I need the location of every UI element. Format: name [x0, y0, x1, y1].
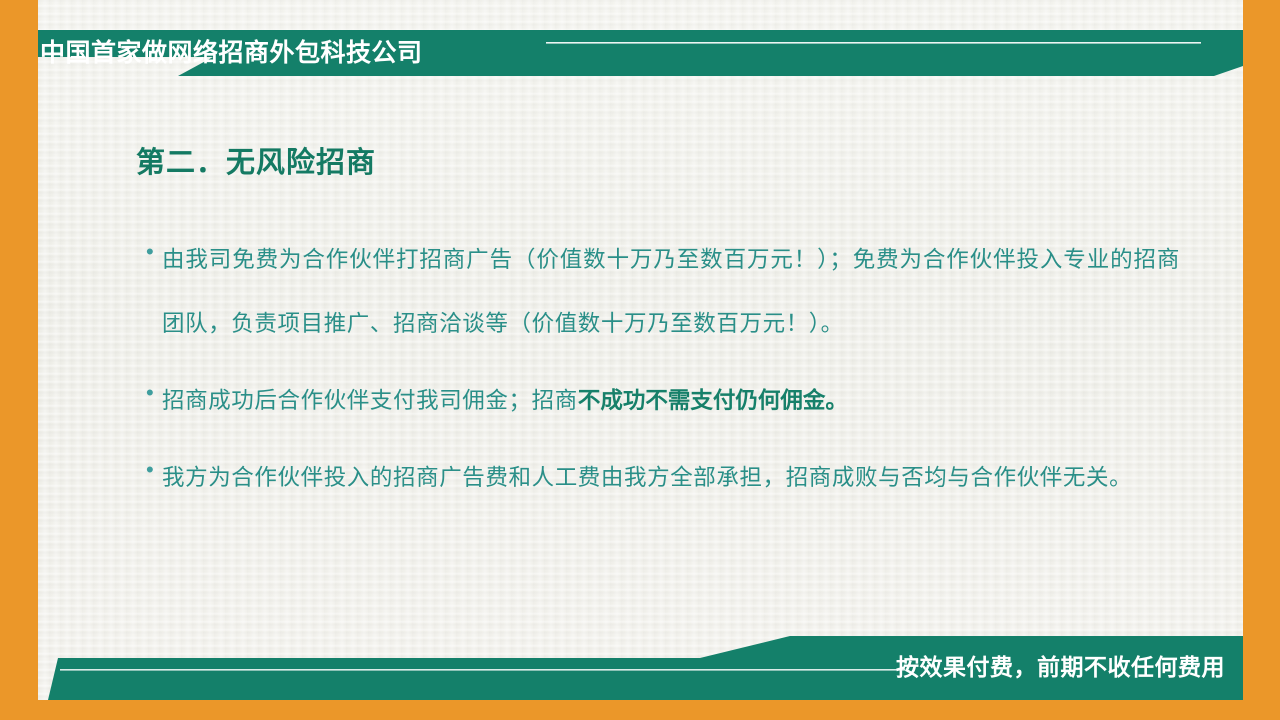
emphasis-text: 不成功不需支付仍何佣金。: [578, 388, 848, 413]
list-item: • 招商成功后合作伙伴支付我司佣金；招商不成功不需支付仍何佣金。: [140, 369, 1180, 433]
plain-text: 我方为合作伙伴投入的招商广告费和人工费由我方全部承担，招商成败与否均与合作伙伴无…: [162, 465, 1132, 491]
bullet-list: • 由我司免费为合作伙伴打招商广告（价值数十万乃至数百万元！）；免费为合作伙伴投…: [140, 228, 1180, 523]
bullet-text-1: 由我司免费为合作伙伴打招商广告（价值数十万乃至数百万元！）；免费为合作伙伴投入专…: [162, 228, 1180, 356]
bullet-marker-icon: •: [140, 446, 162, 493]
header-banner-text: 中国首家做网络招商外包科技公司: [40, 36, 480, 72]
bullet-marker-icon: •: [140, 369, 162, 416]
plain-text: 招商成功后合作伙伴支付我司佣金；招商: [162, 388, 578, 414]
bullet-text-2: 招商成功后合作伙伴支付我司佣金；招商不成功不需支付仍何佣金。: [162, 369, 1180, 433]
slide-canvas: 中国首家做网络招商外包科技公司 第二．无风险招商 • 由我司免费为合作伙伴打招商…: [0, 0, 1280, 720]
plain-text: 由我司免费为合作伙伴打招商广告（价值数十万乃至数百万元！）；免费为合作伙伴投入专…: [162, 247, 1180, 337]
bullet-text-3: 我方为合作伙伴投入的招商广告费和人工费由我方全部承担，招商成败与否均与合作伙伴无…: [162, 446, 1180, 510]
bullet-marker-icon: •: [140, 228, 162, 275]
page-title: 第二．无风险招商: [136, 139, 376, 181]
list-item: • 由我司免费为合作伙伴打招商广告（价值数十万乃至数百万元！）；免费为合作伙伴投…: [140, 228, 1180, 356]
footer-banner-text: 按效果付费，前期不收任何费用: [896, 648, 1225, 682]
list-item: • 我方为合作伙伴投入的招商广告费和人工费由我方全部承担，招商成败与否均与合作伙…: [140, 446, 1180, 510]
